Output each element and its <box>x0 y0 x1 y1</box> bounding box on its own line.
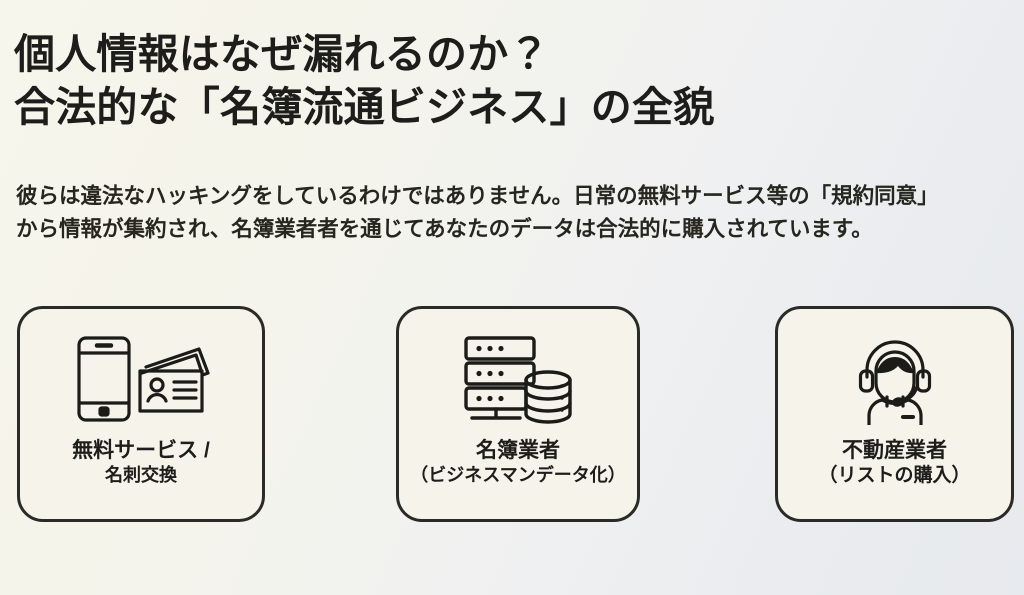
flow-step-list-broker[interactable]: 名簿業者 （ビジネスマンデータ化） <box>396 306 640 522</box>
page-title: 個人情報はなぜ漏れるのか？ 合法的な「名簿流通ビジネス」の全貌 <box>14 28 974 135</box>
flow-step-free-service[interactable]: 無料サービス / 名刺交換 <box>17 306 265 522</box>
flow-step-real-estate-agency[interactable]: 不動産業者 （リストの購入） <box>775 306 1014 522</box>
process-flow-diagram: 無料サービス / 名刺交換 <box>0 306 1024 526</box>
page-title-line-2: 合法的な「名簿流通ビジネス」の全貌 <box>14 81 974 134</box>
flow-step-label-main: 名簿業者 <box>410 437 625 464</box>
flow-step-label: 不動産業者 （リストの購入） <box>810 437 978 489</box>
flow-step-label: 無料サービス / 名刺交換 <box>64 437 218 488</box>
description-paragraph: 彼らは違法なハッキングをしているわけではありません。日常の無料サービス等の「規約… <box>16 180 1016 245</box>
server-rack-and-database-icon <box>458 333 578 425</box>
description-line-1: 彼らは違法なハッキングをしているわけではありません。日常の無料サービス等の「規約… <box>16 180 1016 213</box>
flow-step-label-sub: （リストの購入） <box>818 464 970 489</box>
slide-canvas: 個人情報はなぜ漏れるのか？ 合法的な「名簿流通ビジネス」の全貌 彼らは違法なハッ… <box>0 0 1024 595</box>
smartphone-and-business-card-icon <box>70 333 212 425</box>
flow-step-label-sub: 名刺交換 <box>72 464 210 487</box>
description-line-2: から情報が集約され、名簿業者者を通じてあなたのデータは合法的に購入されています。 <box>16 213 1016 246</box>
flow-step-label-main: 無料サービス / <box>72 437 210 464</box>
flow-step-label-main: 不動産業者 <box>818 437 970 464</box>
headset-operator-icon <box>847 333 943 425</box>
flow-step-label-sub: （ビジネスマンデータ化） <box>410 464 625 487</box>
flow-step-label: 名簿業者 （ビジネスマンデータ化） <box>402 437 633 488</box>
page-title-line-1: 個人情報はなぜ漏れるのか？ <box>14 28 974 81</box>
